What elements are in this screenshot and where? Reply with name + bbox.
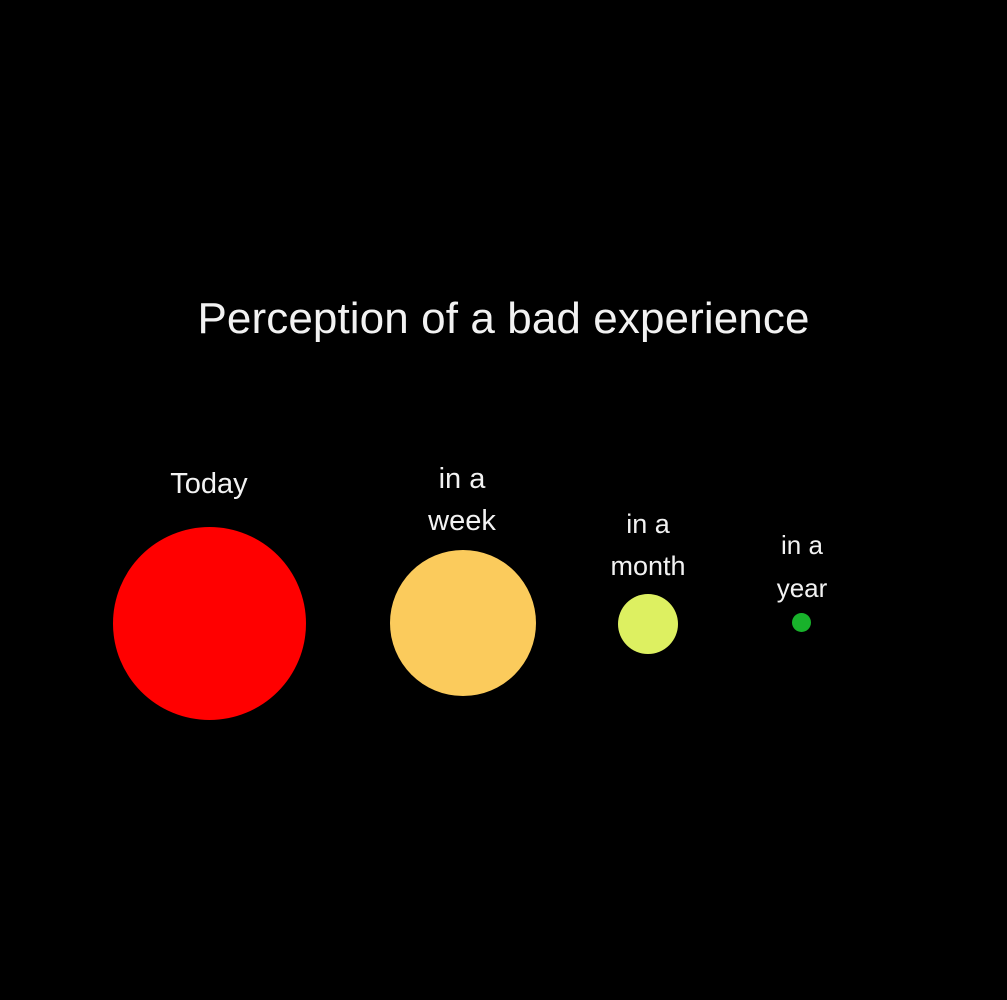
bubble-label-month: in a month [588,503,708,587]
bubble-week [390,550,536,696]
bubble-group-year: in a year [756,0,848,1000]
bubble-chart-plot-area: Today in a week in a month in a year [0,0,1007,1000]
bubble-today [113,527,306,720]
bubble-group-month: in a month [588,0,708,1000]
bubble-label-year: in a year [756,524,848,610]
bubble-group-today: Today [109,0,309,1000]
bubble-year [792,613,811,632]
slide-canvas: Perception of a bad experience Today in … [0,0,1007,1000]
bubble-group-week: in a week [382,0,542,1000]
bubble-label-today: Today [109,466,309,503]
bubble-label-week: in a week [382,458,542,542]
bubble-month [618,594,678,654]
